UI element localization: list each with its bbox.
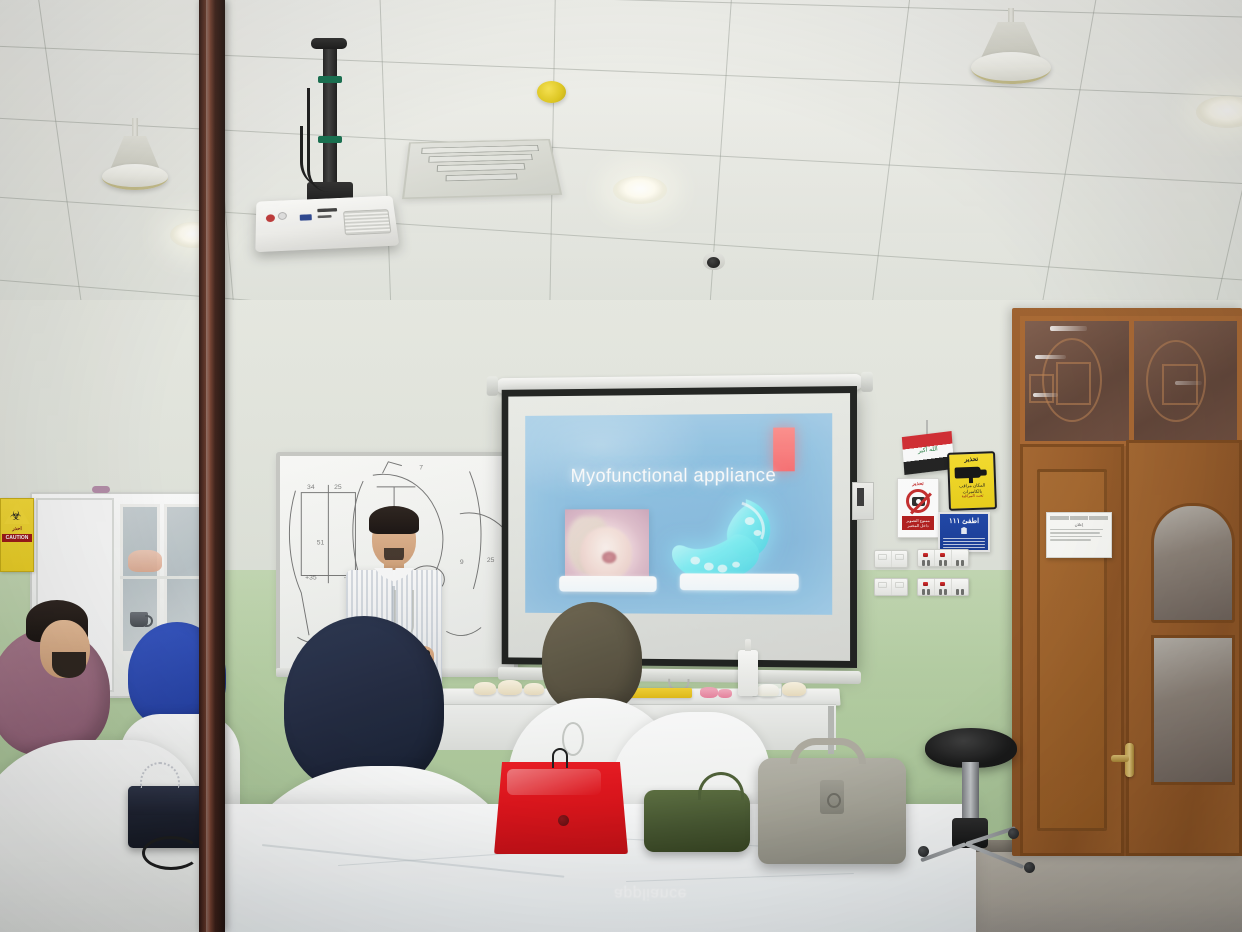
- ceiling-fan-right: [963, 8, 1059, 90]
- student-bearded-man: [18, 600, 108, 720]
- bearded-man-beard: [52, 652, 86, 678]
- handbag-flap: [128, 786, 204, 815]
- presentation-slide: Myofunctional appliance: [525, 413, 832, 615]
- structural-pole: [199, 0, 225, 932]
- cabinet-contents: [128, 550, 162, 572]
- door-glass-arch: [1151, 503, 1235, 623]
- photo-mouth-region: [602, 551, 616, 563]
- dental-stool-caster-1: [1024, 862, 1035, 873]
- projector-mount-clamp-upper: [318, 76, 342, 83]
- no-photo-body: ممنوع التصوير داخل المختبر: [902, 516, 934, 530]
- svg-text:25: 25: [487, 557, 495, 564]
- ceiling-projector: [255, 196, 399, 253]
- door-leaf-right[interactable]: [1126, 440, 1242, 856]
- folder-hook: [552, 748, 568, 768]
- transom-pane-left: [1025, 321, 1134, 441]
- door-handle[interactable]: [1125, 743, 1134, 777]
- cctv-warning-sign: تحذير المكان مراقب بالكاميرات تحت المراق…: [947, 451, 997, 511]
- classroom-photo: احذر CAUTION 34 25: [0, 0, 1242, 932]
- door-glass-lower: [1151, 635, 1235, 785]
- sanitizer-bottle: [738, 650, 758, 696]
- emergency-body-lines: [943, 536, 984, 550]
- svg-text:9: 9: [460, 559, 464, 566]
- case-handle[interactable]: [790, 738, 866, 764]
- notice-header-bar: [1050, 516, 1108, 520]
- slide-title: Myofunctional appliance: [571, 465, 777, 487]
- biohazard-caution-sign: احذر CAUTION: [0, 498, 34, 572]
- projector-vent: [343, 209, 391, 235]
- cctv-camera-icon: [954, 464, 989, 481]
- security-camera-icon: [703, 252, 725, 270]
- pink-appliance-2: [718, 689, 732, 698]
- dental-cast-5: [782, 682, 806, 696]
- transom-pane-right: [1134, 321, 1238, 441]
- slide-caption-right: [680, 573, 799, 590]
- case-latch[interactable]: [820, 780, 844, 814]
- light-switch-plate-upper[interactable]: [874, 550, 908, 568]
- projector-hotspot: [525, 413, 707, 504]
- ceiling: [0, 0, 1242, 330]
- table-reflection-text: appliance: [614, 884, 687, 902]
- no-photo-title: تحذير: [912, 481, 923, 487]
- smoke-detector-icon: [537, 81, 566, 103]
- svg-text:34: 34: [307, 484, 315, 491]
- ceiling-fan-left: [96, 118, 174, 192]
- dental-stool-caster-3: [918, 846, 929, 857]
- cctv-title: تحذير: [964, 456, 978, 463]
- no-photo-icon: [906, 489, 930, 513]
- door-transom-window: [1020, 316, 1242, 446]
- dental-stool-caster-2: [1008, 828, 1019, 839]
- door-notice-paper: إعلان: [1046, 512, 1112, 558]
- air-vent: [402, 139, 562, 199]
- emergency-info-sign: اطفئ ١١١: [938, 512, 990, 552]
- ceiling-downlight-2: [613, 176, 667, 204]
- light-switch-plate-lower[interactable]: [874, 578, 908, 596]
- svg-text:+35: +35: [305, 574, 317, 581]
- power-socket-plate-upper[interactable]: [917, 549, 969, 567]
- slide-accent-block: [773, 427, 795, 471]
- electrical-box: [852, 482, 874, 520]
- folder-highlight: [507, 769, 601, 795]
- cable-coil: [142, 836, 200, 870]
- presenter-hair: [369, 506, 419, 534]
- emergency-title: اطفئ ١١١: [949, 517, 979, 525]
- svg-text:51: 51: [317, 540, 325, 547]
- biohazard-icon: [4, 502, 30, 524]
- folder-button: [558, 815, 569, 826]
- projector-mount-head: [311, 38, 347, 49]
- pink-appliance-1: [700, 687, 718, 698]
- caution-arabic-text: احذر: [10, 526, 24, 532]
- slide-caption-left: [559, 576, 656, 592]
- door-leaf-left[interactable]: [1020, 444, 1124, 856]
- cabinet-shelf: [120, 576, 204, 579]
- caution-en-text: CAUTION: [2, 534, 33, 542]
- cctv-sub: تحت المراقبة: [961, 494, 983, 500]
- power-socket-plate-lower[interactable]: [917, 578, 969, 596]
- extinguisher-icon: [957, 527, 971, 534]
- svg-text:7: 7: [419, 464, 423, 471]
- svg-text:25: 25: [334, 484, 342, 491]
- red-document-folder: [494, 762, 628, 854]
- no-photography-sign: تحذير ممنوع التصوير داخل المختبر: [897, 478, 939, 538]
- notice-title: إعلان: [1050, 522, 1108, 527]
- grey-instrument-case: [758, 758, 906, 864]
- iraq-flag: [902, 431, 954, 475]
